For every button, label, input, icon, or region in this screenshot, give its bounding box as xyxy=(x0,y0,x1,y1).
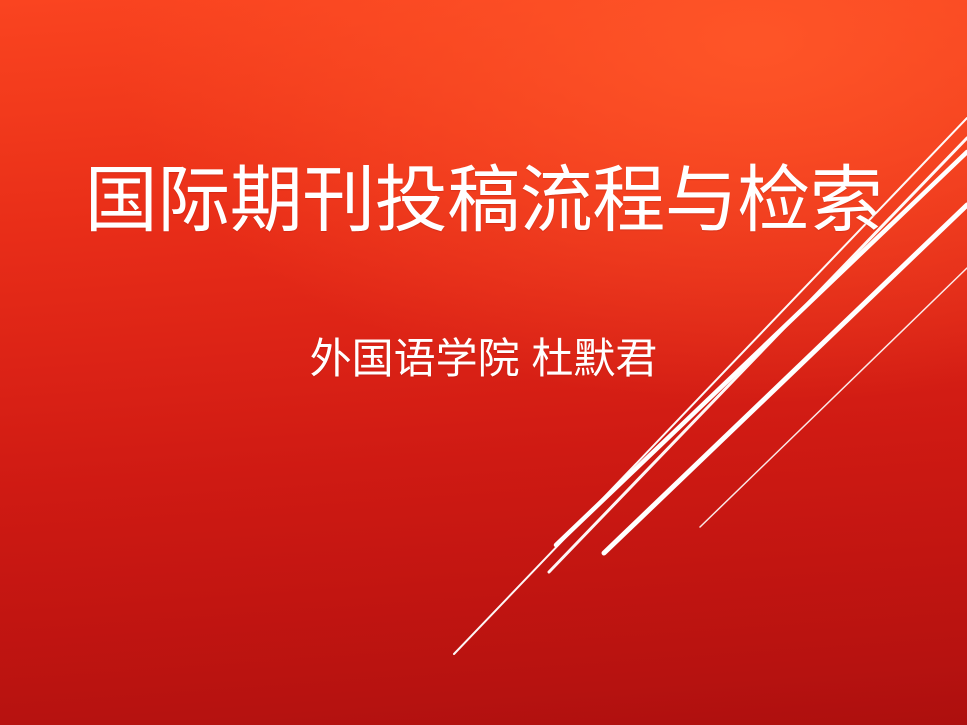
slide-subtitle: 外国语学院 杜默君 xyxy=(0,334,967,384)
presentation-title-slide: 国际期刊投稿流程与检索 外国语学院 杜默君 xyxy=(0,0,967,725)
page-title: 国际期刊投稿流程与检索 xyxy=(0,162,967,239)
